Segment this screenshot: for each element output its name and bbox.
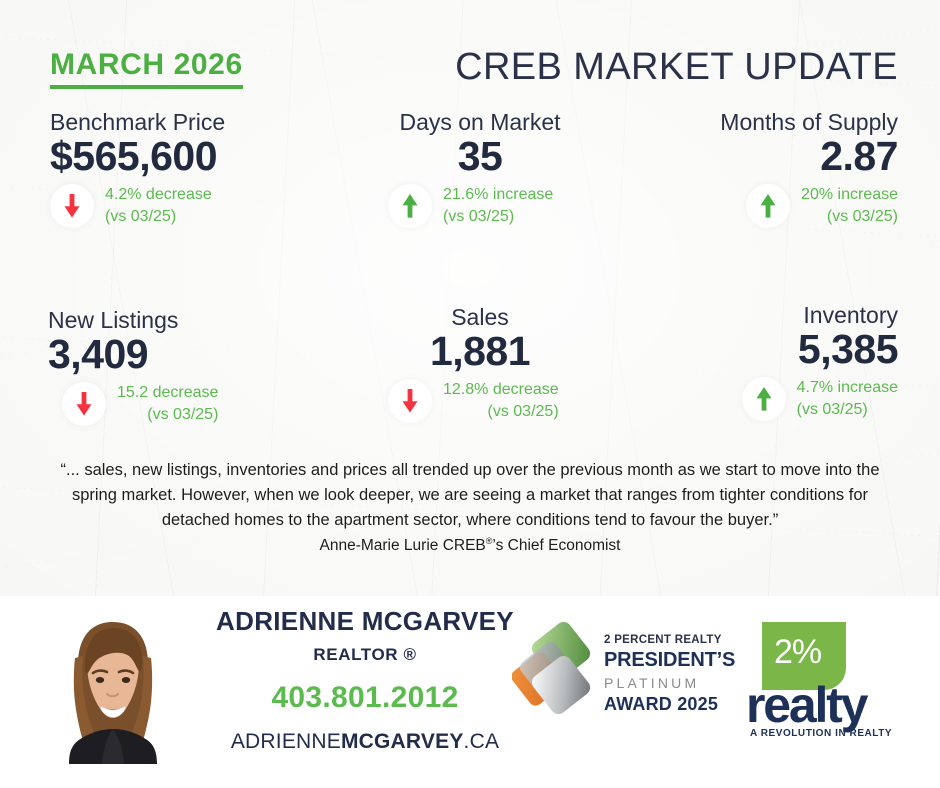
arrow-up-icon: [388, 184, 432, 228]
stat-change-period: (vs 03/25): [797, 399, 898, 421]
stat-label: Days on Market: [330, 110, 630, 134]
logo-wordmark: realty: [746, 676, 866, 734]
stat-change-value: 20% increase: [801, 186, 898, 203]
stat-change: 20% increase (vs 03/25): [801, 184, 898, 227]
stat-value: $565,600: [50, 134, 350, 180]
award-line-3: PLATINUM: [604, 675, 735, 691]
stat-change-value: 21.6% increase: [443, 186, 553, 203]
presidents-platinum-award-badge: 2 PERCENT REALTY PRESIDENT’S PLATINUM AW…: [512, 622, 724, 740]
agent-role: REALTOR ®: [200, 645, 530, 665]
website-part-3: .CA: [464, 730, 500, 753]
stat-months-of-supply: Months of Supply 2.87 20% increase (vs 0…: [620, 110, 898, 228]
two-percent-realty-logo: 2% realty A REVOLUTION IN REALTY: [744, 620, 894, 748]
creb-market-update-poster: MARCH 2026 CREB MARKET UPDATE Benchmark …: [0, 0, 940, 788]
stat-change-period: (vs 03/25): [105, 206, 212, 228]
stat-new-listings: New Listings 3,409 15.2 decrease (vs 03/…: [48, 308, 348, 426]
economist-quote: “... sales, new listings, inventories an…: [46, 458, 894, 558]
website-part-1: ADRIENNE: [231, 730, 341, 753]
agent-name: ADRIENNE MCGARVEY: [200, 606, 530, 637]
arrow-up-icon: [742, 377, 786, 421]
website-part-2: MCGARVEY: [341, 730, 464, 753]
stat-change: 4.2% decrease (vs 03/25): [105, 184, 212, 227]
stat-value: 35: [330, 134, 630, 180]
stat-label: Inventory: [620, 303, 898, 327]
stat-change-value: 15.2 decrease: [117, 384, 218, 401]
stat-value: 1,881: [330, 329, 630, 375]
arrow-down-icon: [50, 184, 94, 228]
stat-value: 2.87: [620, 134, 898, 180]
stat-inventory: Inventory 5,385 4.7% increase (vs 03/25): [620, 303, 898, 421]
stat-change: 15.2 decrease (vs 03/25): [117, 382, 218, 425]
arrow-down-icon: [388, 379, 432, 423]
stat-label: Benchmark Price: [50, 110, 350, 134]
award-diamonds-icon: [512, 622, 608, 734]
stat-change: 21.6% increase (vs 03/25): [443, 184, 553, 227]
award-line-1: 2 PERCENT REALTY: [604, 634, 735, 646]
stat-label: Sales: [330, 305, 630, 329]
stat-change-value: 4.2% decrease: [105, 186, 212, 203]
award-line-2: PRESIDENT’S: [604, 649, 735, 672]
stat-benchmark-price: Benchmark Price $565,600 4.2% decrease (…: [50, 110, 350, 228]
avatar: [52, 612, 174, 764]
stat-change: 4.7% increase (vs 03/25): [797, 377, 898, 420]
stat-days-on-market: Days on Market 35 21.6% increase (vs 03/…: [330, 110, 630, 228]
arrow-up-icon: [746, 184, 790, 228]
stat-change-period: (vs 03/25): [117, 404, 218, 426]
stat-change: 12.8% decrease (vs 03/25): [443, 379, 559, 422]
stats-section: MARCH 2026 CREB MARKET UPDATE Benchmark …: [0, 0, 940, 596]
logo-percent-text: 2%: [774, 633, 821, 672]
month-label: MARCH 2026: [50, 48, 243, 89]
agent-website[interactable]: ADRIENNEMCGARVEY.CA: [200, 730, 530, 754]
stat-change-period: (vs 03/25): [443, 401, 559, 423]
agent-info: ADRIENNE MCGARVEY REALTOR ® 403.801.2012…: [200, 606, 530, 754]
stat-change-period: (vs 03/25): [801, 206, 898, 228]
attribution-name: Anne-Marie Lurie CREB: [320, 537, 486, 554]
quote-text: “... sales, new listings, inventories an…: [61, 461, 880, 529]
stat-value: 3,409: [48, 332, 348, 378]
stat-change-value: 4.7% increase: [797, 379, 898, 396]
stat-label: Months of Supply: [620, 110, 898, 134]
attribution-title: ’s Chief Economist: [492, 537, 620, 554]
stat-sales: Sales 1,881 12.8% decrease (vs 03/25): [330, 305, 630, 423]
quote-attribution: Anne-Marie Lurie CREB®’s Chief Economist: [46, 534, 894, 558]
page-title: CREB MARKET UPDATE: [455, 46, 898, 89]
award-line-4: AWARD 2025: [604, 694, 735, 715]
stat-change-value: 12.8% decrease: [443, 381, 559, 398]
agent-phone[interactable]: 403.801.2012: [200, 681, 530, 715]
stat-change-period: (vs 03/25): [443, 206, 553, 228]
stat-label: New Listings: [48, 308, 348, 332]
arrow-down-icon: [62, 382, 106, 426]
stat-value: 5,385: [620, 327, 898, 373]
logo-tagline: A REVOLUTION IN REALTY: [750, 728, 892, 739]
award-text-block: 2 PERCENT REALTY PRESIDENT’S PLATINUM AW…: [604, 634, 735, 715]
